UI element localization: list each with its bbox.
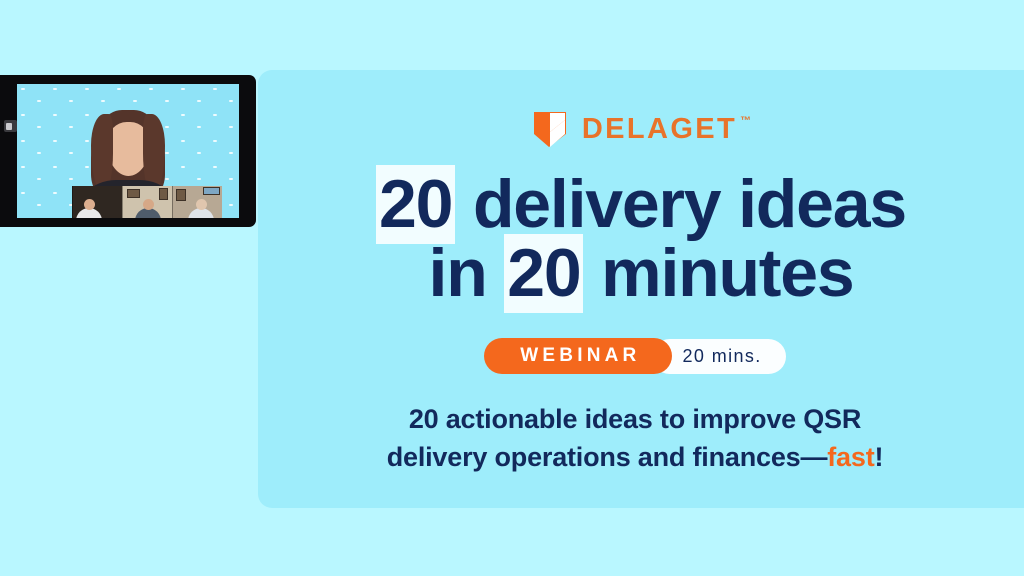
headline-line-2: in 20 minutes [258,239,1024,308]
headline-line-1-rest: delivery ideas [455,166,906,242]
subtitle: 20 actionable ideas to improve QSR deliv… [258,400,1018,477]
webinar-title-slide: DELAGET ™ 20 delivery ideas in 20 minute… [0,0,1024,576]
participant-head [143,199,154,210]
trademark-symbol: ™ [740,116,751,127]
wall-picture-frame [176,189,186,201]
wall-picture-frame [159,188,168,200]
brand-wordmark-text: DELAGET [582,113,737,145]
duration-badge: 20 mins. [652,339,785,374]
video-call-panel[interactable] [0,75,256,227]
brand-lockup: DELAGET ™ [258,110,1018,148]
headline-highlight-1: 20 [376,165,455,244]
camera-icon[interactable] [4,120,17,132]
headline-line-2-prefix: in [429,235,505,311]
participant-thumbnail[interactable] [72,186,122,218]
participant-thumbnail[interactable] [172,186,222,218]
window-pane [203,187,220,195]
main-speaker-video[interactable] [17,84,239,218]
participant-thumbnail-strip [72,186,222,218]
content-card: DELAGET ™ 20 delivery ideas in 20 minute… [258,70,1024,508]
delaget-logo-icon [533,110,567,148]
headline-line-2-rest: minutes [583,235,853,311]
subtitle-line-2-prefix: delivery operations and finances— [387,442,828,472]
brand-wordmark: DELAGET ™ [582,115,737,144]
subtitle-line-2-suffix: ! [874,442,883,472]
participant-head [84,199,95,210]
headline-line-1: 20 delivery ideas [258,170,1024,239]
subtitle-line-1: 20 actionable ideas to improve QSR [258,400,1018,438]
page-title: 20 delivery ideas in 20 minutes [258,170,1024,309]
wall-picture-frame [127,189,140,198]
subtitle-line-2: delivery operations and finances—fast! [258,438,1018,476]
webinar-badge: WEBINAR [484,338,672,374]
badge-row: WEBINAR 20 mins. [258,338,1018,374]
participant-thumbnail[interactable] [122,186,172,218]
subtitle-accent-word: fast [827,442,874,472]
headline-highlight-2: 20 [504,234,583,313]
